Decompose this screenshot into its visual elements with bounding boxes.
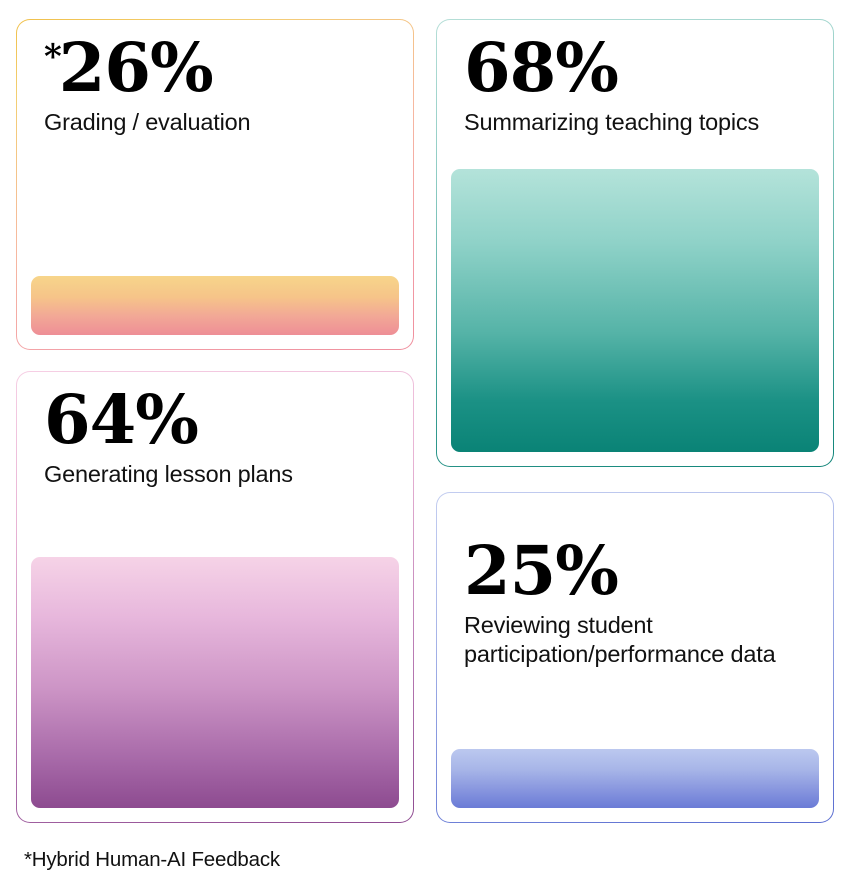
stat-card-reviewing-body: 25% Reviewing student participation/perf…: [437, 493, 833, 822]
stat-number-grading: 26%: [59, 28, 213, 107]
stat-label-reviewing: Reviewing student participation/performa…: [464, 611, 806, 668]
gradient-bar-reviewing: [451, 749, 819, 808]
stat-value-grading: *26%: [44, 34, 386, 101]
bar-container-summarizing: [451, 169, 819, 466]
stat-value-reviewing: 25%: [464, 537, 806, 604]
stat-value-summarizing: 68%: [464, 34, 806, 101]
bar-container-grading: [31, 276, 399, 349]
stat-label-lesson-plans: Generating lesson plans: [44, 460, 386, 489]
footnote: *Hybrid Human-AI Feedback: [24, 848, 280, 872]
stat-card-board: *26% Grading / evaluation 68% Summarizin…: [0, 0, 854, 896]
gradient-bar-summarizing: [451, 169, 819, 452]
stat-card-summarizing-body: 68% Summarizing teaching topics: [437, 20, 833, 466]
stat-card-lesson-plans: 64% Generating lesson plans: [16, 371, 414, 823]
stat-label-grading: Grading / evaluation: [44, 108, 386, 137]
stat-card-reviewing: 25% Reviewing student participation/perf…: [436, 492, 834, 823]
stat-value-lesson-plans: 64%: [44, 386, 386, 453]
stat-label-summarizing: Summarizing teaching topics: [464, 108, 806, 137]
gradient-bar-lesson-plans: [31, 557, 399, 808]
stat-card-summarizing: 68% Summarizing teaching topics: [436, 19, 834, 467]
bar-container-reviewing: [451, 749, 819, 822]
stat-card-grading: *26% Grading / evaluation: [16, 19, 414, 350]
gradient-bar-grading: [31, 276, 399, 335]
bar-container-lesson-plans: [31, 557, 399, 822]
stat-card-grading-body: *26% Grading / evaluation: [17, 20, 413, 349]
stat-card-lesson-plans-body: 64% Generating lesson plans: [17, 372, 413, 822]
